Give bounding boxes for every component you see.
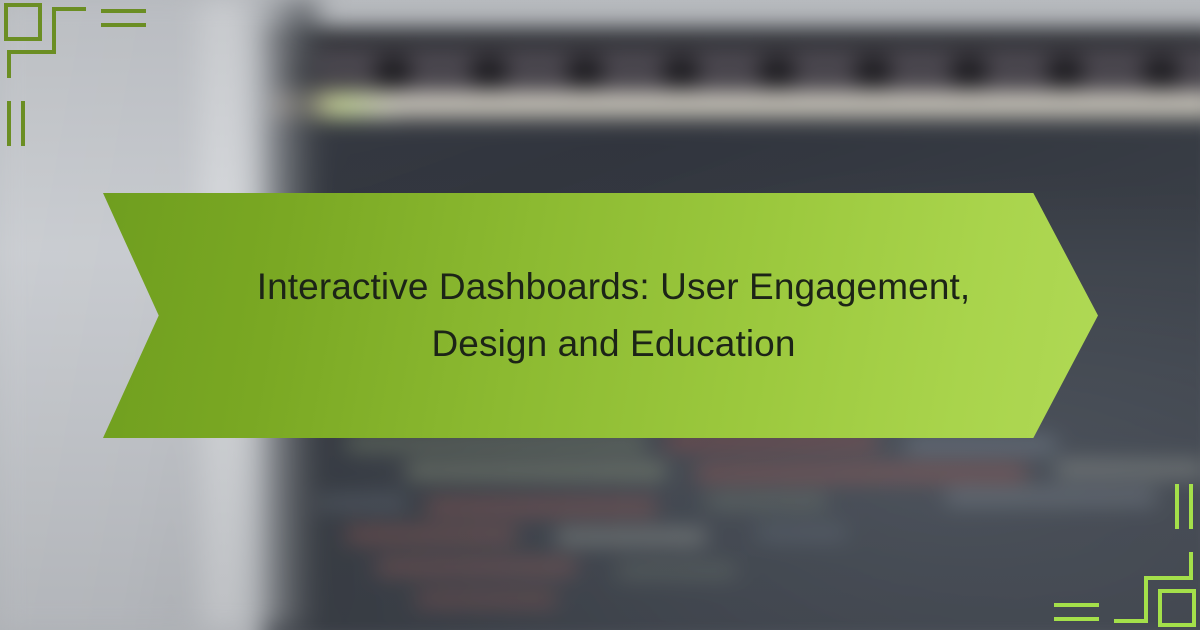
share-card: Interactive Dashboards: User Engagement,… <box>0 0 1200 630</box>
corner-ornament-bottom-right <box>1050 480 1200 630</box>
title-line-1: Interactive Dashboards: User Engagement, <box>234 259 994 315</box>
title-ribbon: Interactive Dashboards: User Engagement,… <box>103 193 1098 438</box>
title-line-2: Design and Education <box>234 316 994 372</box>
corner-ornament-top-left <box>0 0 150 150</box>
page-title: Interactive Dashboards: User Engagement,… <box>234 259 994 371</box>
